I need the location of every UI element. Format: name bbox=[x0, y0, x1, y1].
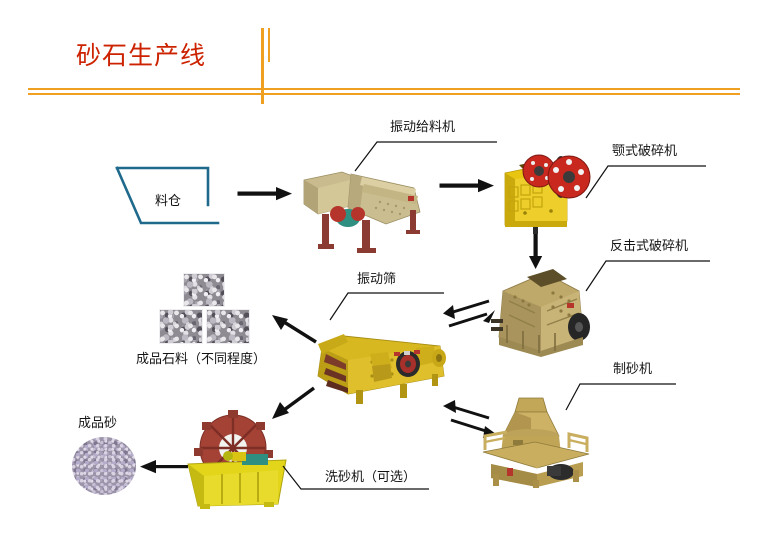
label-finished-stone: 成品石料（不同程度） bbox=[136, 348, 266, 367]
label-finished-sand: 成品砂 bbox=[78, 412, 117, 431]
node-finished-sand bbox=[72, 437, 136, 495]
label-impact-crusher: 反击式破碎机 bbox=[610, 235, 688, 254]
label-vibrating-screen: 振动筛 bbox=[357, 268, 396, 287]
leader-jaw-crusher bbox=[586, 160, 708, 200]
title-rule-top bbox=[28, 88, 740, 90]
page-title: 砂石生产线 bbox=[76, 36, 206, 72]
label-sand-washer: 洗砂机（可选） bbox=[325, 466, 416, 485]
label-sand-maker: 制砂机 bbox=[613, 358, 652, 377]
leader-impact-crusher bbox=[586, 255, 712, 293]
node-hopper: 料仓 bbox=[115, 165, 210, 225]
node-impact-crusher bbox=[483, 263, 598, 359]
leader-vibrating-screen bbox=[330, 288, 446, 322]
hopper-label: 料仓 bbox=[155, 190, 181, 209]
leader-vibrating-feeder bbox=[355, 138, 500, 172]
title-rule-vertical-short bbox=[268, 28, 270, 62]
label-vibrating-feeder: 振动给料机 bbox=[390, 116, 455, 135]
label-jaw-crusher: 颚式破碎机 bbox=[612, 140, 677, 159]
title-rule-bottom bbox=[28, 93, 740, 95]
stone-sample-right bbox=[206, 309, 250, 344]
node-jaw-crusher bbox=[495, 143, 595, 235]
arrow-hopper-to-feeder bbox=[238, 185, 294, 203]
diagram-canvas: 砂石生产线 料仓 bbox=[0, 0, 777, 540]
node-sand-washer bbox=[178, 408, 296, 510]
stone-sample-left bbox=[159, 309, 203, 344]
arrow-feeder-to-jaw bbox=[440, 177, 496, 195]
node-vibrating-screen bbox=[308, 310, 453, 408]
stone-sample-top bbox=[183, 273, 225, 307]
title-rule-vertical bbox=[261, 28, 264, 104]
leader-sand-maker bbox=[566, 378, 678, 412]
